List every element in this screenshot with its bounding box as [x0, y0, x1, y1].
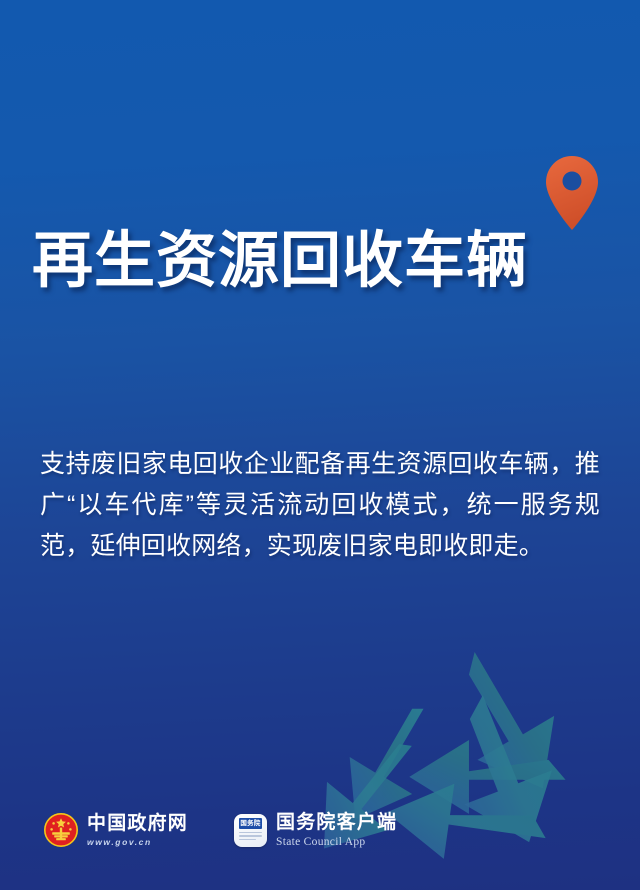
map-pin-icon	[546, 156, 598, 230]
state-council-name: 国务院客户端	[276, 813, 397, 832]
state-council-badge: 国务院	[239, 818, 262, 829]
poster-root: 再生资源回收车辆 支持废旧家电回收企业配备再生资源回收车辆，推广“以车代库”等灵…	[0, 0, 640, 890]
body-container: 支持废旧家电回收企业配备再生资源回收车辆，推广“以车代库”等灵活流动回收模式，统…	[40, 444, 600, 567]
title-container: 再生资源回收车辆	[32, 226, 608, 294]
app-icon-line-3	[239, 839, 256, 841]
poster-body-text: 支持废旧家电回收企业配备再生资源回收车辆，推广“以车代库”等灵活流动回收模式，统…	[40, 444, 600, 567]
footer-logos: 中国政府网 www.gov.cn 国务院 国务院客户端 State Counci…	[44, 813, 397, 849]
state-council-app-logo[interactable]: 国务院 国务院客户端 State Council App	[234, 813, 397, 849]
state-council-text: 国务院客户端 State Council App	[276, 813, 397, 849]
gov-cn-logo[interactable]: 中国政府网 www.gov.cn	[44, 813, 188, 847]
china-national-emblem-icon	[44, 813, 78, 847]
app-icon-line-1	[239, 832, 262, 834]
state-council-app-icon: 国务院	[234, 814, 267, 847]
app-icon-line-2	[239, 835, 262, 837]
page-title: 再生资源回收车辆	[32, 226, 608, 294]
gov-cn-text: 中国政府网 www.gov.cn	[87, 814, 188, 847]
state-council-name-en: State Council App	[276, 837, 397, 849]
gov-cn-url: www.gov.cn	[87, 838, 188, 847]
gov-cn-name: 中国政府网	[87, 814, 188, 833]
